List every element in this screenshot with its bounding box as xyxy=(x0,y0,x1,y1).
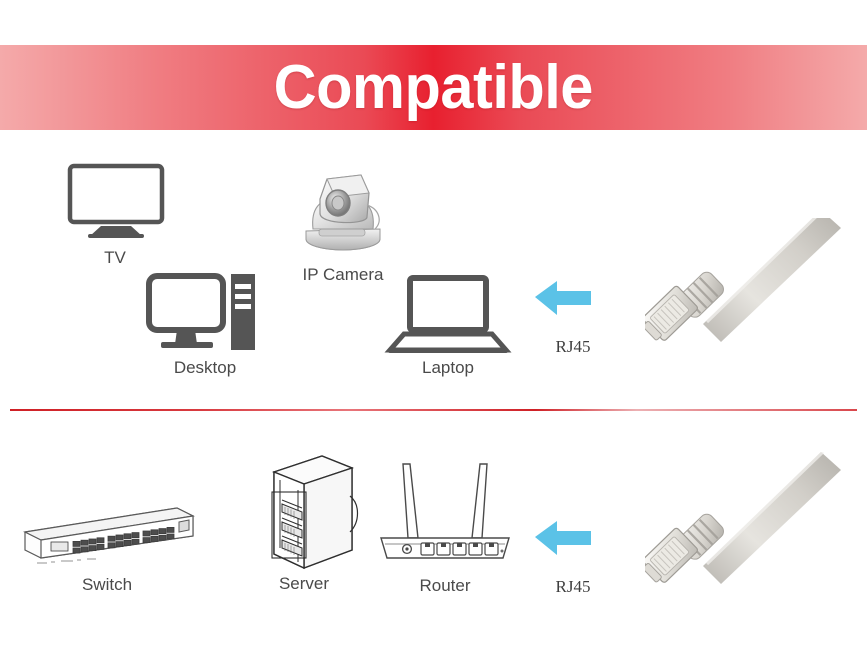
desktop-computer-icon xyxy=(105,272,305,362)
connector-rj45-bottom: RJ45 xyxy=(473,515,673,615)
ethernet-cable-bottom xyxy=(645,452,867,607)
rj45-label-top: RJ45 xyxy=(473,337,673,357)
tv-icon xyxy=(15,160,215,250)
device-label-tv: TV xyxy=(15,248,215,268)
device-desktop: Desktop xyxy=(105,272,305,382)
ethernet-patch-cable-icon xyxy=(645,218,867,363)
compatible-banner: Compatible xyxy=(0,45,867,130)
rj45-label-bottom: RJ45 xyxy=(473,577,673,597)
section-divider xyxy=(10,409,857,411)
ethernet-patch-cable-icon xyxy=(645,452,867,607)
device-label-desktop: Desktop xyxy=(105,358,305,378)
ethernet-cable-top xyxy=(645,218,867,363)
arrow-left-icon xyxy=(473,275,673,335)
device-ip-camera: IP Camera xyxy=(243,155,443,290)
device-tv: TV xyxy=(15,160,215,275)
network-switch-icon xyxy=(7,480,207,572)
connector-rj45-top: RJ45 xyxy=(473,275,673,375)
ip-camera-icon xyxy=(243,155,443,263)
arrow-left-icon xyxy=(473,515,673,575)
page-title: Compatible xyxy=(274,57,593,119)
device-switch: Switch xyxy=(7,480,207,610)
device-label-switch: Switch xyxy=(7,575,207,595)
